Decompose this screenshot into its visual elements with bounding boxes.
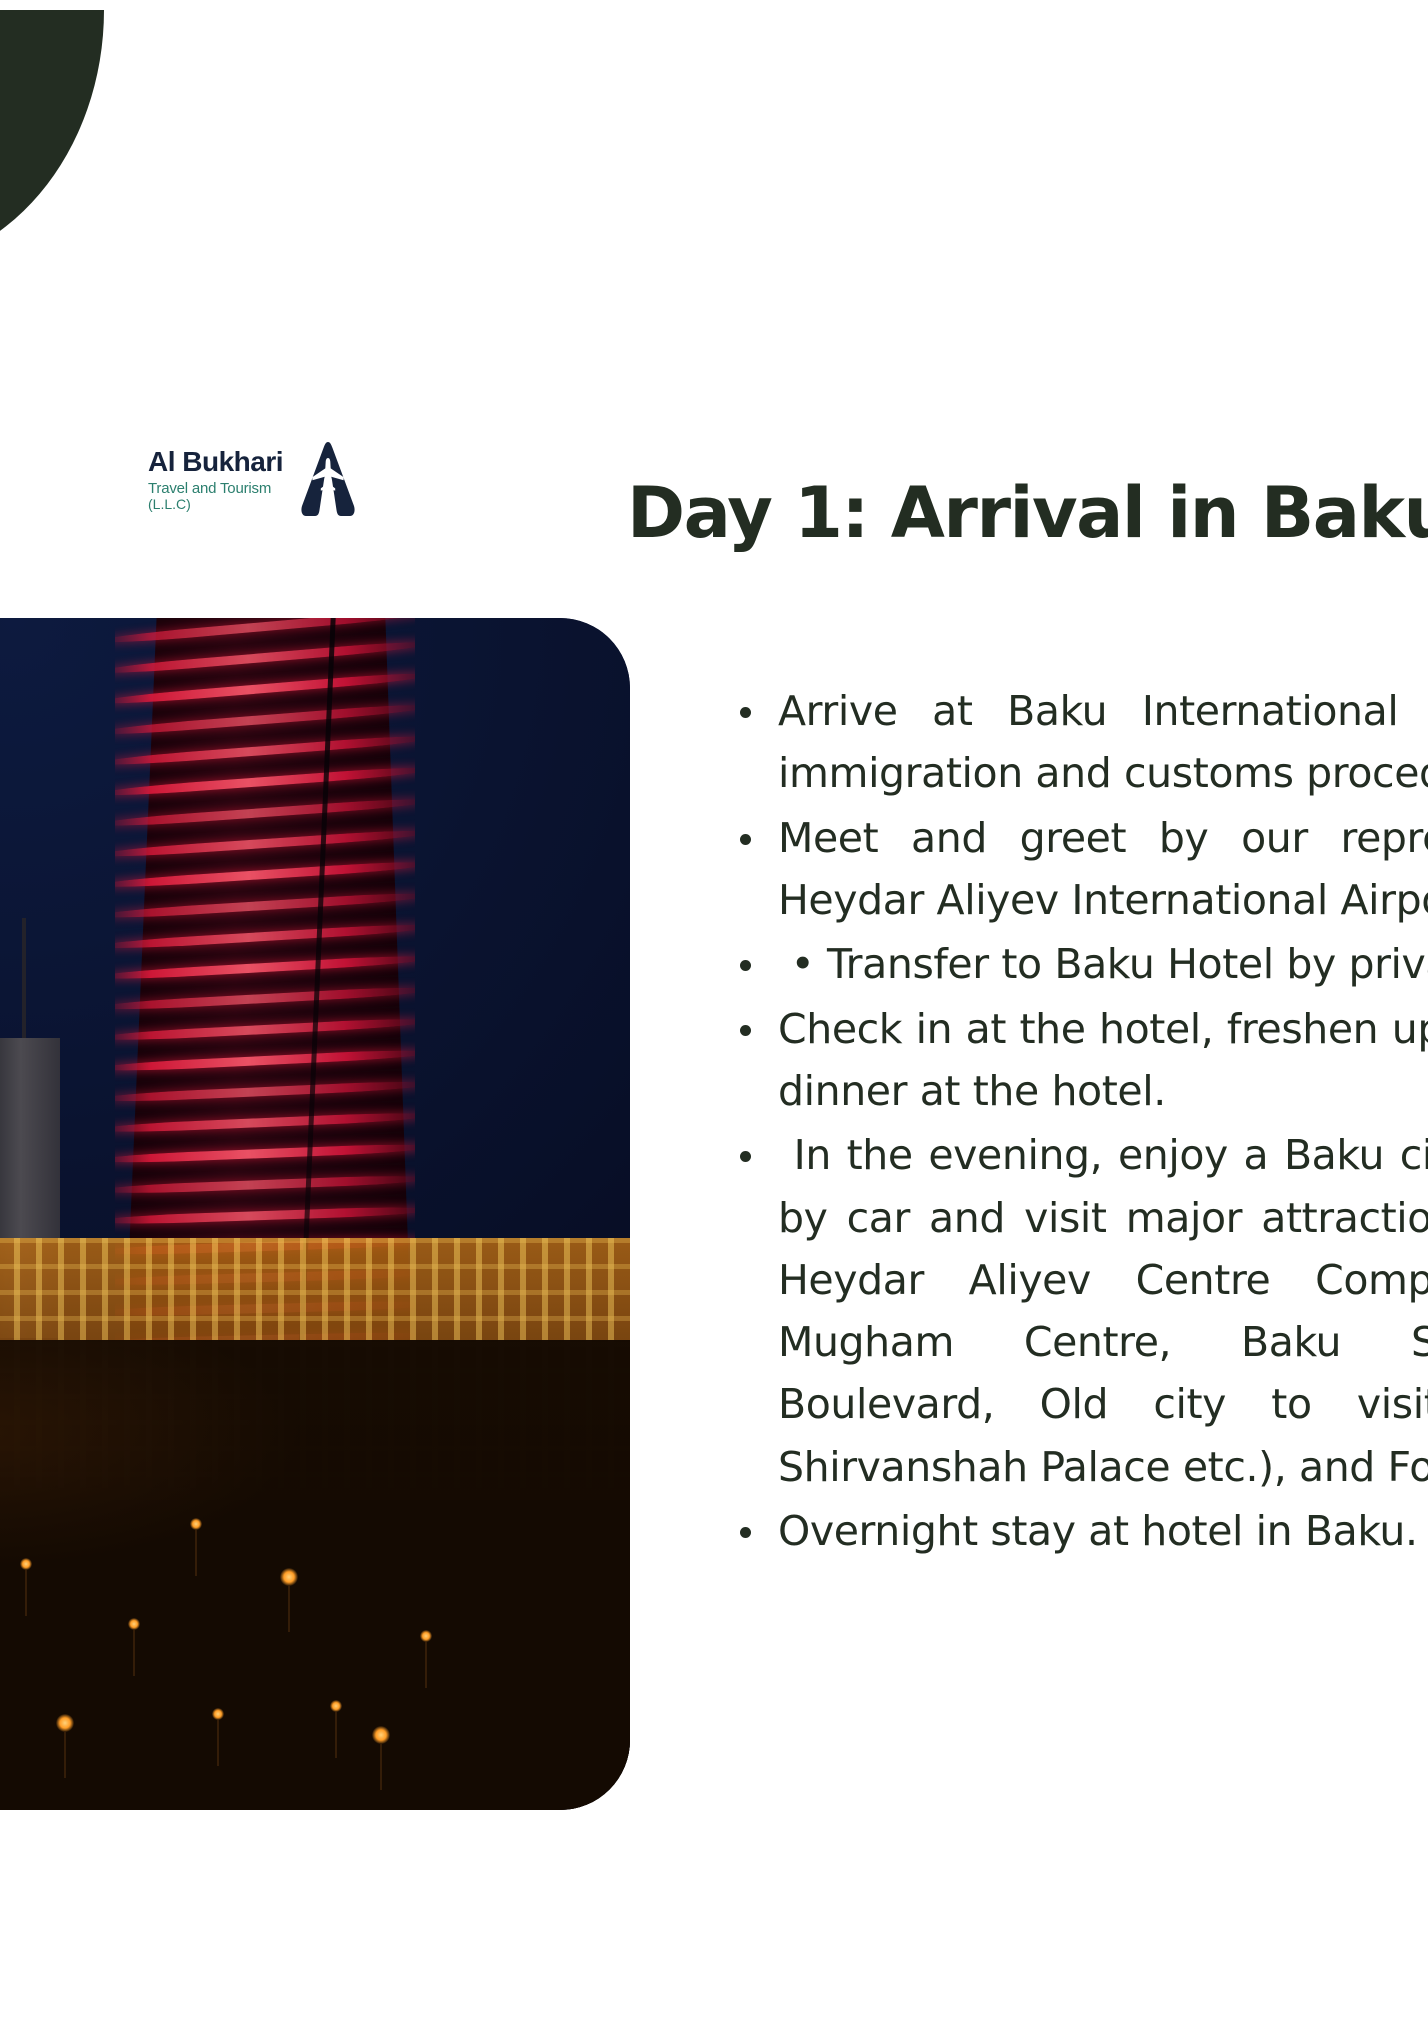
list-item: • Transfer to Baku Hotel by private vehi… [726, 933, 1428, 995]
itinerary-list: Arrive at Baku International Airport, co… [726, 680, 1428, 1564]
list-item: Check in at the hotel, freshen up and en… [726, 998, 1428, 1123]
list-item: In the evening, enjoy a Baku city orient… [726, 1124, 1428, 1498]
logo-wordmark: Al Bukhari Travel and Tourism (L.L.C) [148, 448, 283, 511]
brand-logo: Al Bukhari Travel and Tourism (L.L.C) [148, 440, 359, 518]
page-title: Day 1: Arrival in Baku [627, 477, 1428, 551]
photo-foreground-trees [0, 1340, 630, 1810]
list-item: Arrive at Baku International Airport, co… [726, 680, 1428, 805]
logo-legal-suffix: (L.L.C) [148, 497, 283, 511]
list-item: Overnight stay at hotel in Baku. [726, 1500, 1428, 1562]
decorative-corner-shape [0, 10, 104, 270]
logo-company-name: Al Bukhari [148, 448, 283, 476]
hero-photo [0, 618, 630, 1810]
logo-tagline: Travel and Tourism [148, 481, 283, 496]
airplane-in-triangle-logo-mark [297, 440, 359, 518]
list-item: Meet and greet by our representative at … [726, 807, 1428, 932]
